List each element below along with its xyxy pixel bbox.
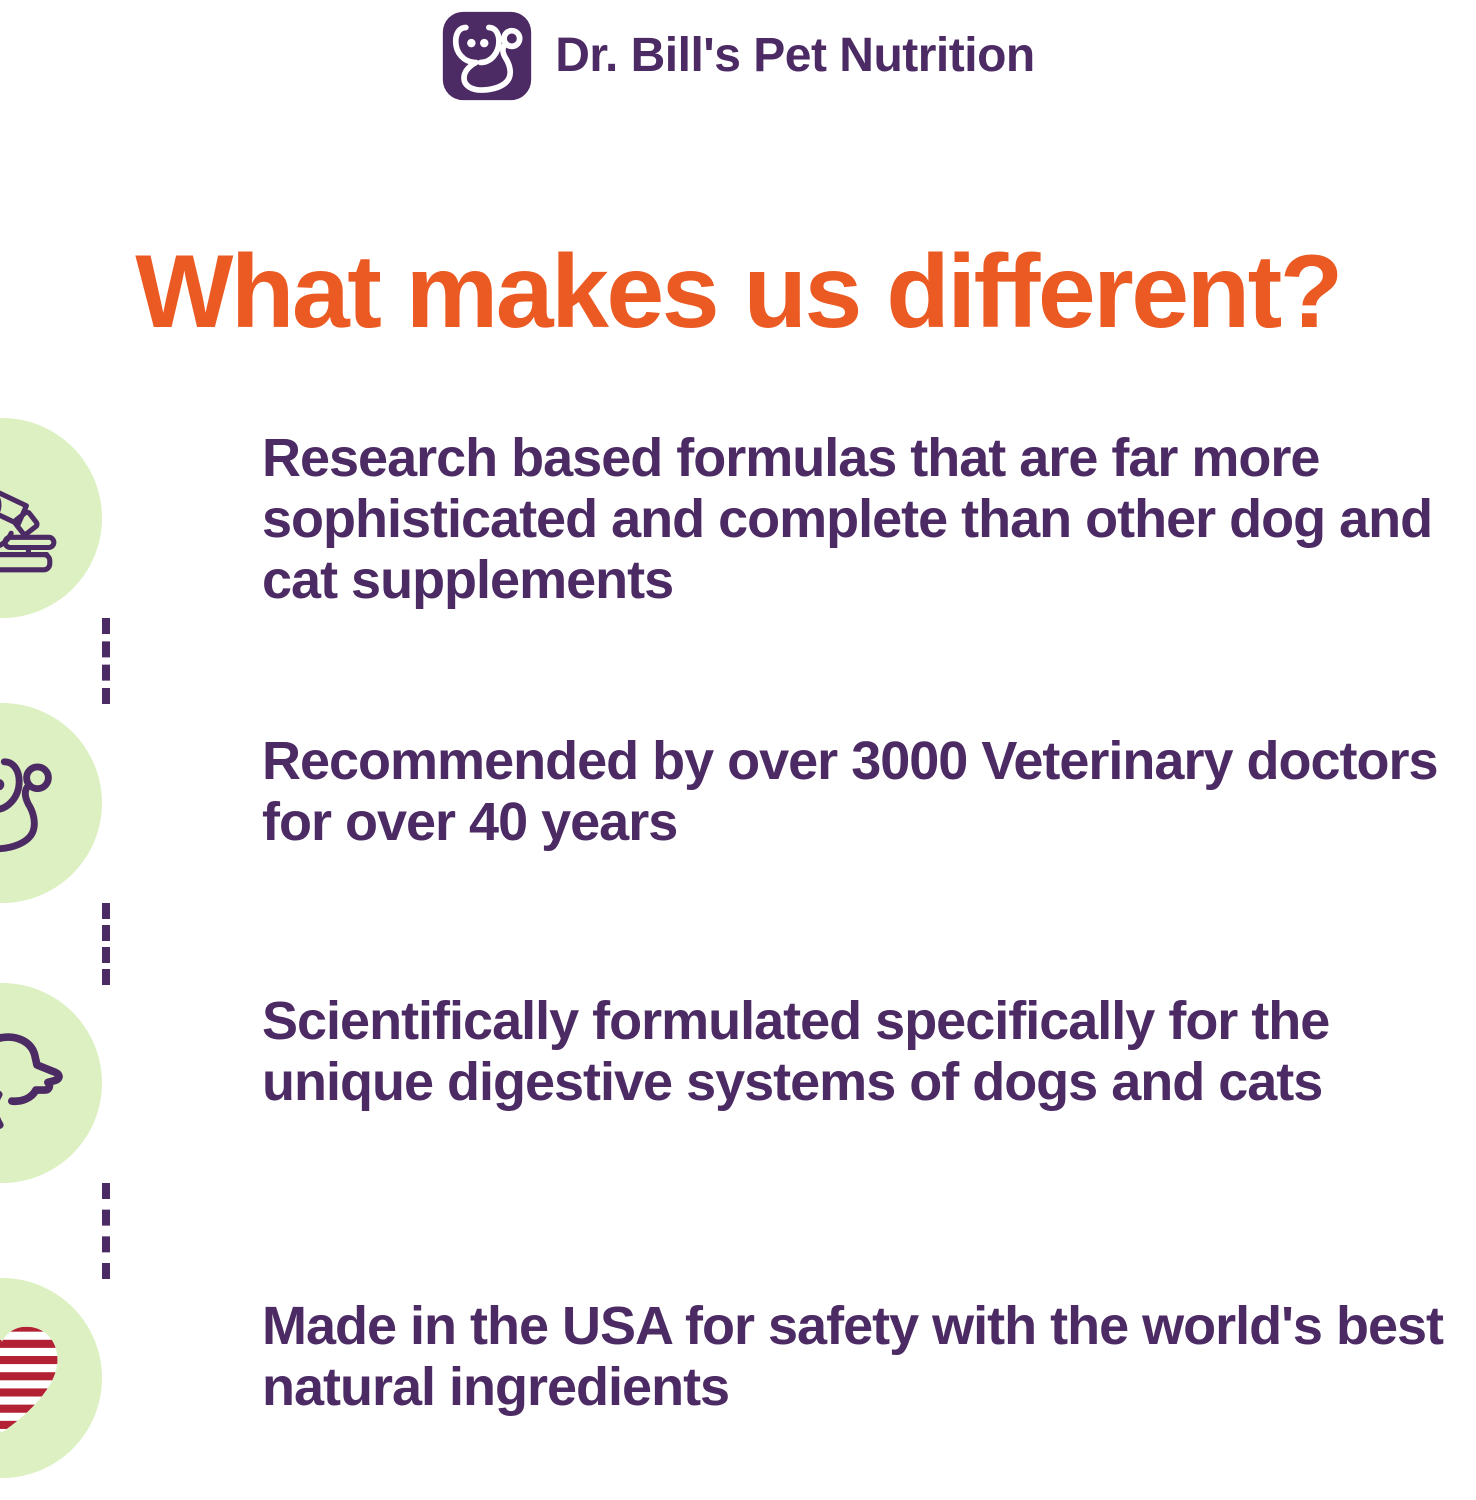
- brand-header: Dr. Bill's Pet Nutrition: [0, 0, 1476, 112]
- list-item: Made in the USA for safety with the worl…: [0, 1278, 1476, 1488]
- stethoscope-pet-face-icon: [441, 10, 533, 102]
- list-item-label: Recommended by over 3000 Veterinary doct…: [262, 703, 1476, 853]
- icon-badge: [0, 983, 102, 1183]
- feature-icon-container: [0, 418, 262, 618]
- list-item: Scientifically formulated specifically f…: [0, 983, 1476, 1278]
- dog-and-cat-heads-icon: [0, 1020, 73, 1146]
- microscope-icon: [0, 457, 63, 579]
- list-item: Research based formulas that are far mor…: [0, 418, 1476, 703]
- connector-line: [102, 903, 118, 985]
- feature-icon-container: [0, 1278, 262, 1478]
- list-item: Recommended by over 3000 Veterinary doct…: [0, 703, 1476, 983]
- icon-badge: [0, 1278, 102, 1478]
- list-item-label: Made in the USA for safety with the worl…: [262, 1278, 1476, 1418]
- list-item-label: Research based formulas that are far mor…: [262, 418, 1476, 611]
- list-item-label: Scientifically formulated specifically f…: [262, 983, 1476, 1113]
- usa-flag-heart-icon: [0, 1317, 66, 1440]
- brand-name: Dr. Bill's Pet Nutrition: [555, 32, 1034, 80]
- icon-badge: [0, 703, 102, 903]
- connector-line: [102, 1183, 118, 1279]
- stethoscope-pet-face-icon: [0, 740, 65, 866]
- feature-list: Research based formulas that are far mor…: [0, 418, 1476, 1488]
- feature-icon-container: [0, 703, 262, 903]
- page-title: What makes us different?: [0, 238, 1476, 347]
- icon-badge: [0, 418, 102, 618]
- feature-icon-container: [0, 983, 262, 1183]
- connector-line: [102, 618, 118, 704]
